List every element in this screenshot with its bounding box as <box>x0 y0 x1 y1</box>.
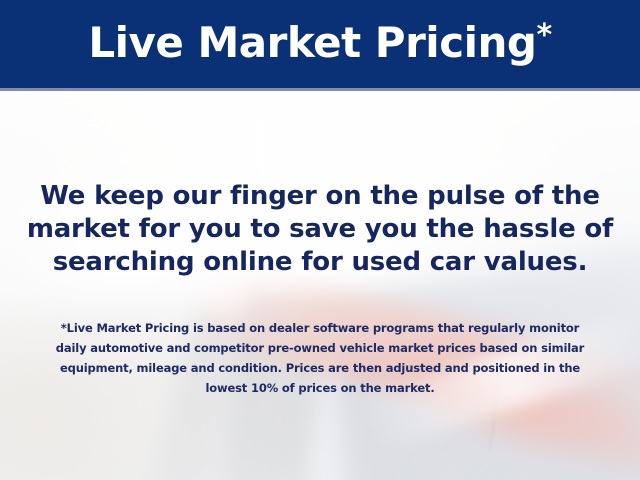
headline-line-1: We keep our finger on the pulse of the <box>22 180 618 213</box>
disclaimer-line-1: *Live Market Pricing is based on dealer … <box>28 318 612 338</box>
disclaimer-line-4: lowest 10% of prices on the market. <box>28 378 612 398</box>
headline-line-3: searching online for used car values. <box>22 246 618 279</box>
live-market-pricing-card: Live Market Pricing* We keep our finger … <box>0 0 640 480</box>
headline: We keep our finger on the pulse of the m… <box>0 180 640 279</box>
headline-line-2: market for you to save you the hassle of <box>22 213 618 246</box>
title-banner: Live Market Pricing* <box>0 0 640 88</box>
title-asterisk: * <box>536 18 551 53</box>
page-title: Live Market Pricing* <box>88 22 551 66</box>
disclaimer-line-2: daily automotive and competitor pre-owne… <box>28 338 612 358</box>
disclaimer: *Live Market Pricing is based on dealer … <box>0 318 640 398</box>
disclaimer-line-3: equipment, mileage and condition. Prices… <box>28 358 612 378</box>
page-title-text: Live Market Pricing <box>88 18 536 67</box>
